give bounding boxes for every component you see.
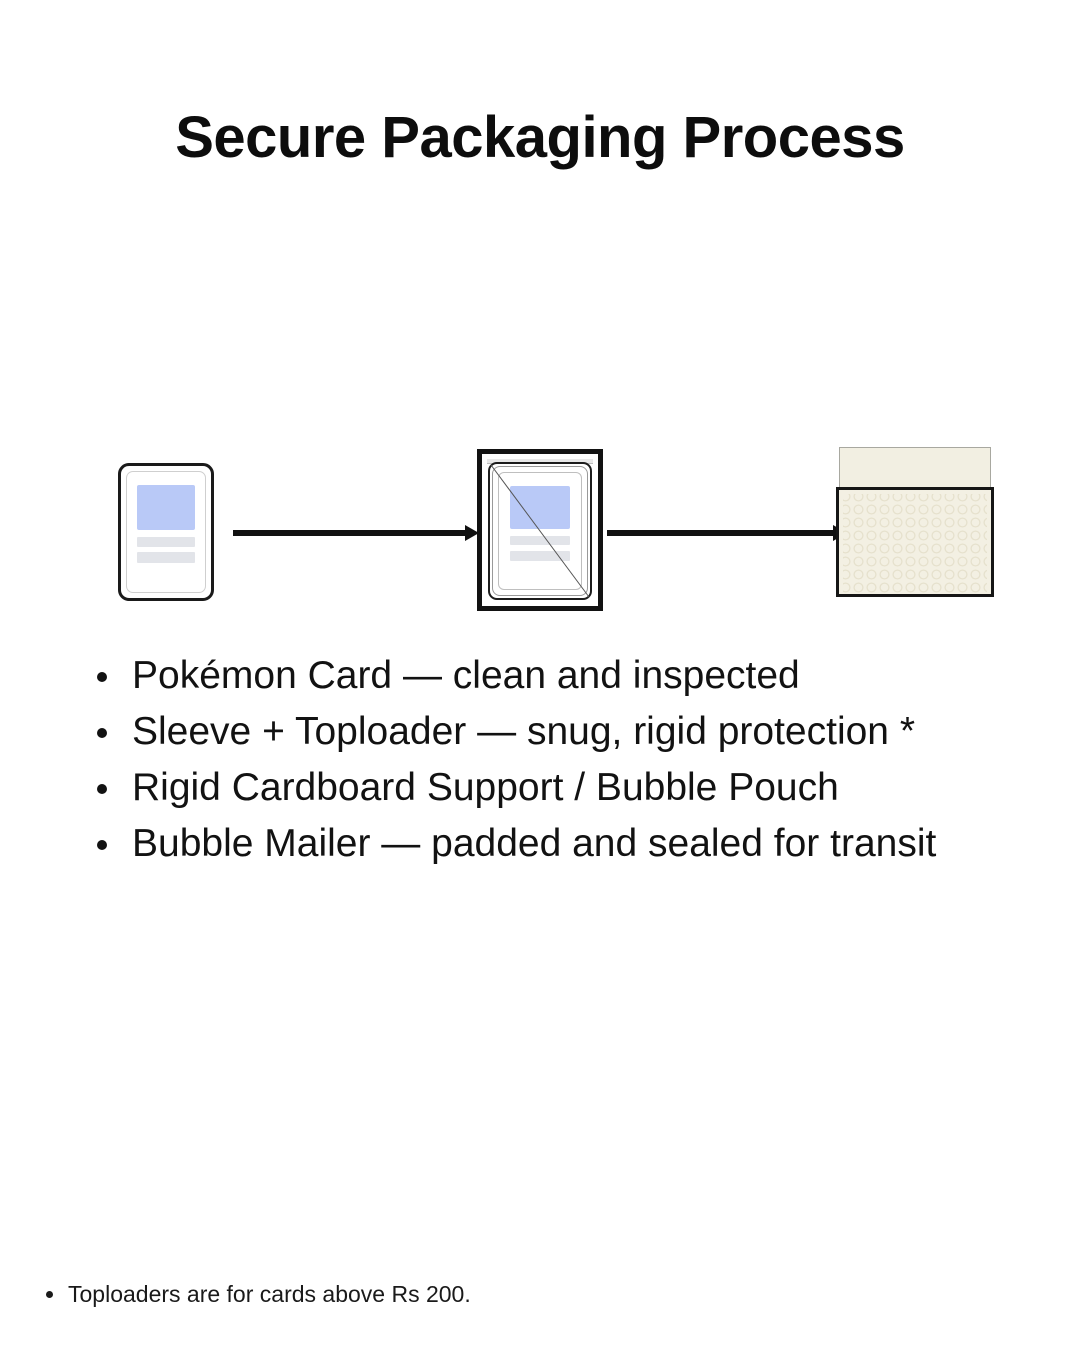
step-bubble-mailer <box>836 447 994 597</box>
arrow-shaft <box>233 530 467 536</box>
trading-card-icon <box>118 463 214 601</box>
list-item-label: Rigid Cardboard Support / Bubble Pouch <box>132 766 839 809</box>
packaging-steps-list: Pokémon Card — clean and inspected Sleev… <box>90 648 1050 872</box>
list-item: Bubble Mailer — padded and sealed for tr… <box>90 816 1050 872</box>
list-item: Pokémon Card — clean and inspected <box>90 648 1050 704</box>
card-text-bar <box>137 537 195 547</box>
card-artwork-block <box>137 485 195 529</box>
list-item-label: Pokémon Card — clean and inspected <box>132 654 800 697</box>
card-text-bar <box>510 551 571 561</box>
page-title: Secure Packaging Process <box>0 106 1080 170</box>
step-card <box>118 463 214 601</box>
list-item: Rigid Cardboard Support / Bubble Pouch <box>90 760 1050 816</box>
bullet-dot-icon <box>46 1291 53 1298</box>
arrow-right-icon-1 <box>233 522 479 544</box>
bullet-dot-icon <box>97 840 107 850</box>
bubble-mailer-icon <box>836 487 994 597</box>
step-sleeve-toploader <box>477 449 603 611</box>
trading-card-icon <box>498 472 582 590</box>
list-item-label: Sleeve + Toploader — snug, rigid protect… <box>132 710 915 753</box>
bullet-dot-icon <box>97 672 107 682</box>
card-artwork-block <box>510 486 571 529</box>
footnote: Toploaders are for cards above Rs 200. <box>40 1277 940 1311</box>
arrow-shaft <box>607 530 835 536</box>
list-item: Sleeve + Toploader — snug, rigid protect… <box>90 704 1050 760</box>
bullet-dot-icon <box>97 728 107 738</box>
arrow-right-icon-2 <box>607 522 847 544</box>
footnote-label: Toploaders are for cards above Rs 200. <box>68 1281 471 1307</box>
list-item-label: Bubble Mailer — padded and sealed for tr… <box>132 822 936 865</box>
packaging-process-diagram <box>0 430 1080 630</box>
card-text-bar <box>510 536 571 546</box>
card-text-bar <box>137 552 195 562</box>
footnote-item: Toploaders are for cards above Rs 200. <box>40 1277 940 1311</box>
card-inner-border <box>126 471 206 593</box>
bullet-dot-icon <box>97 784 107 794</box>
mailer-flap <box>839 447 991 488</box>
bubble-wrap-pattern-icon <box>839 490 991 597</box>
